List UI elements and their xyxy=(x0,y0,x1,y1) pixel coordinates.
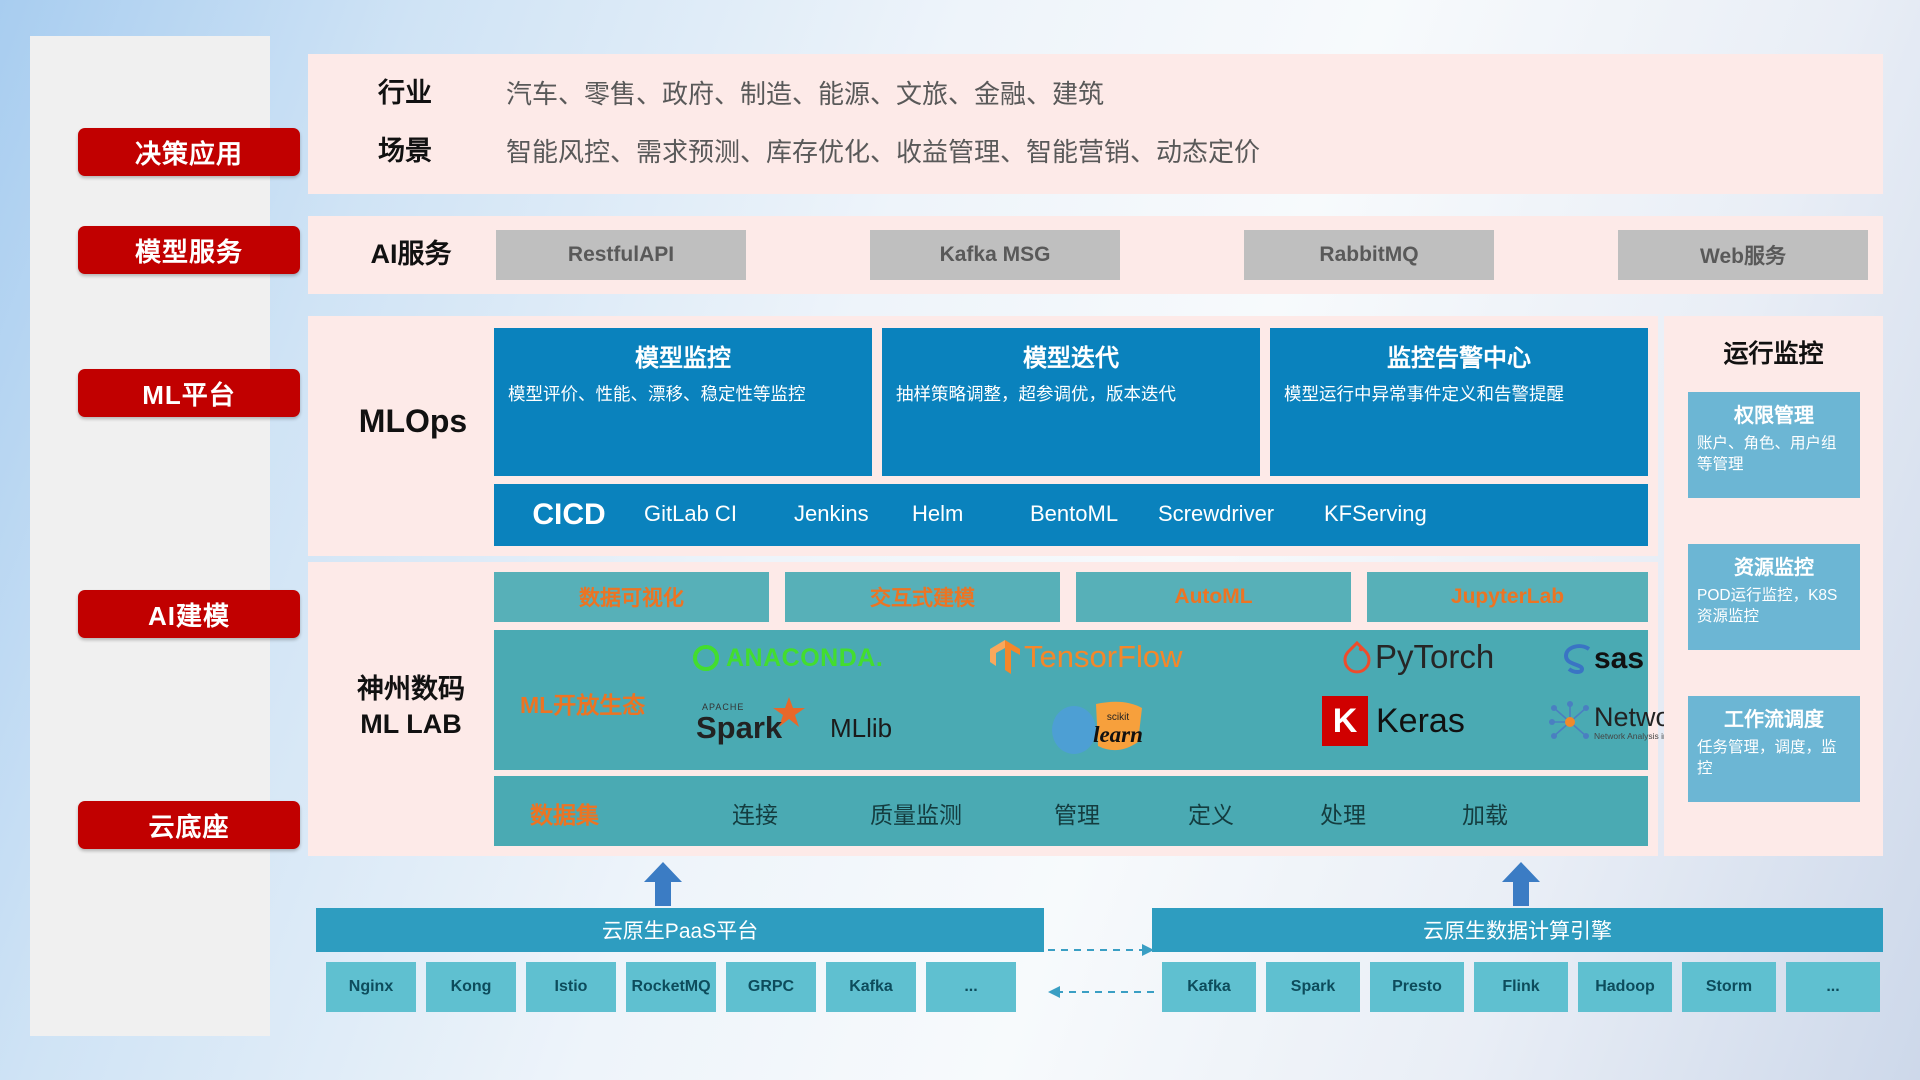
pill-label: Web服务 xyxy=(1700,240,1786,270)
card-title: 资源监控 xyxy=(1697,551,1851,580)
card-desc: 账户、角色、用户组等管理 xyxy=(1697,434,1851,476)
engine-tag-presto[interactable]: Presto xyxy=(1370,962,1464,1012)
card-desc: 抽样策略调整，超参调优，版本迭代 xyxy=(896,382,1246,406)
anaconda-logo: ANACONDA. xyxy=(690,642,883,674)
cicd-item-helm[interactable]: Helm xyxy=(912,484,1030,525)
tag-label: Spark xyxy=(1291,979,1335,996)
pill-label: RestfulAPI xyxy=(568,243,674,267)
ai-service-pill-rabbitmq[interactable]: RabbitMQ xyxy=(1244,230,1494,280)
cicd-item-jenkins[interactable]: Jenkins xyxy=(794,484,912,525)
tag-label: ... xyxy=(964,979,977,996)
paas-tag-more[interactable]: ... xyxy=(926,962,1016,1012)
tab-label: AutoML xyxy=(1174,585,1252,609)
arrow-up-paas-icon xyxy=(640,862,686,906)
rail-item-cloud-base[interactable]: 云底座 xyxy=(78,801,300,849)
engine-tag-storm[interactable]: Storm xyxy=(1682,962,1776,1012)
ai-service-pill-restfulapi[interactable]: RestfulAPI xyxy=(496,230,746,280)
dataset-item-manage[interactable]: 管理 xyxy=(1054,796,1100,830)
cicd-item-label: Jenkins xyxy=(794,501,869,526)
rail-label: AI建模 xyxy=(148,596,230,633)
paas-tag-kafka[interactable]: Kafka xyxy=(826,962,916,1012)
tag-label: RocketMQ xyxy=(631,979,710,996)
card-title: 监控告警中心 xyxy=(1284,338,1634,373)
tensorflow-logo: TensorFlow xyxy=(988,638,1183,676)
card-desc: 模型运行中异常事件定义和告警提醒 xyxy=(1284,382,1634,406)
pytorch-wordmark: PyTorch xyxy=(1375,638,1494,676)
tab-label: 交互式建模 xyxy=(870,582,975,612)
dataset-item-define[interactable]: 定义 xyxy=(1188,796,1234,830)
tag-label: Presto xyxy=(1392,979,1442,996)
cicd-item-gitlab[interactable]: GitLab CI xyxy=(644,484,794,525)
tag-label: Kong xyxy=(451,979,492,996)
engine-tag-more[interactable]: ... xyxy=(1786,962,1880,1012)
runtime-monitor-panel: 运行监控 权限管理 账户、角色、用户组等管理 资源监控 POD运行监控，K8S资… xyxy=(1664,316,1883,856)
mlops-label: MLOps xyxy=(338,398,488,444)
cicd-item-label: GitLab CI xyxy=(644,501,737,526)
networkx-graph-icon xyxy=(1548,700,1592,744)
pill-label: Kafka MSG xyxy=(940,243,1051,267)
cicd-label: CICD xyxy=(494,484,644,532)
tag-label: Nginx xyxy=(349,979,393,996)
engine-tag-hadoop[interactable]: Hadoop xyxy=(1578,962,1672,1012)
sas-swirl-icon xyxy=(1562,644,1596,674)
keras-mark-letter: K xyxy=(1333,702,1358,741)
keras-mark-icon: K xyxy=(1322,696,1368,746)
dataset-item-load[interactable]: 加载 xyxy=(1462,796,1508,830)
dataset-label: 数据集 xyxy=(530,796,599,830)
scenario-row-label: 场景 xyxy=(350,130,460,174)
tag-label: Storm xyxy=(1706,979,1752,996)
card-title: 模型迭代 xyxy=(896,338,1246,373)
rail-item-model-svc[interactable]: 模型服务 xyxy=(78,226,300,274)
cicd-bar: CICD GitLab CI Jenkins Helm BentoML Scre… xyxy=(494,484,1648,546)
anaconda-wordmark: ANACONDA. xyxy=(726,644,883,673)
ml-lab-label-line2: ML LAB xyxy=(326,707,496,742)
dataset-item-label: 连接 xyxy=(732,802,778,828)
ai-service-label: AI服务 xyxy=(346,236,476,274)
sas-logo: sas xyxy=(1562,642,1644,676)
tensorflow-mark-icon xyxy=(988,638,1022,676)
tag-label: Istio xyxy=(555,979,588,996)
tab-label: JupyterLab xyxy=(1451,585,1564,609)
rail-item-decision[interactable]: 决策应用 xyxy=(78,128,300,176)
pytorch-logo: PyTorch xyxy=(1342,638,1494,676)
cicd-item-label: KFServing xyxy=(1324,501,1427,526)
cicd-item-bentoml[interactable]: BentoML xyxy=(1030,484,1158,525)
tab-label: 数据可视化 xyxy=(579,582,684,612)
keras-logo: K Keras xyxy=(1322,696,1465,746)
industry-row-value: 汽车、零售、政府、制造、能源、文旅、金融、建筑 xyxy=(506,74,1104,111)
engine-tag-row: Kafka Spark Presto Flink Hadoop Storm ..… xyxy=(1162,962,1882,1012)
sas-wordmark: sas xyxy=(1594,642,1644,676)
scikit-learn-logo: scikit learn xyxy=(1046,698,1164,756)
pill-label: RabbitMQ xyxy=(1319,243,1418,267)
scenario-row-value: 智能风控、需求预测、库存优化、收益管理、智能营销、动态定价 xyxy=(506,132,1260,169)
cicd-item-label: BentoML xyxy=(1030,501,1118,526)
paas-tag-row: Nginx Kong Istio RocketMQ GRPC Kafka ... xyxy=(326,962,1046,1012)
ecosystem-label: ML开放生态 xyxy=(520,686,645,720)
engine-tag-spark[interactable]: Spark xyxy=(1266,962,1360,1012)
card-title: 工作流调度 xyxy=(1697,703,1851,732)
spark-wordmark: Spark xyxy=(696,710,782,746)
pytorch-flame-icon xyxy=(1342,640,1372,674)
engine-tag-kafka[interactable]: Kafka xyxy=(1162,962,1256,1012)
mllib-label: MLlib xyxy=(830,713,892,744)
tensorflow-wordmark: TensorFlow xyxy=(1024,639,1183,675)
dataset-item-process[interactable]: 处理 xyxy=(1320,796,1366,830)
cicd-item-label: Helm xyxy=(912,501,963,526)
monitor-card-workflow[interactable]: 工作流调度 任务管理，调度，监控 xyxy=(1688,696,1860,802)
dataset-row: 数据集 连接 质量监测 管理 定义 处理 加载 xyxy=(494,776,1648,846)
paas-tag-rocketmq[interactable]: RocketMQ xyxy=(626,962,716,1012)
engine-tag-flink[interactable]: Flink xyxy=(1474,962,1568,1012)
tag-label: Hadoop xyxy=(1595,979,1655,996)
monitor-card-permission[interactable]: 权限管理 账户、角色、用户组等管理 xyxy=(1688,392,1860,498)
dataset-item-label: 加载 xyxy=(1462,802,1508,828)
rail-label: 决策应用 xyxy=(135,134,243,171)
keras-wordmark: Keras xyxy=(1376,702,1465,741)
paas-tag-grpc[interactable]: GRPC xyxy=(726,962,816,1012)
industry-row-label: 行业 xyxy=(350,72,460,116)
paas-tag-istio[interactable]: Istio xyxy=(526,962,616,1012)
card-desc: 模型评价、性能、漂移、稳定性等监控 xyxy=(508,382,858,406)
lab-tab-data-visualization[interactable]: 数据可视化 xyxy=(494,572,769,622)
paas-tag-kong[interactable]: Kong xyxy=(426,962,516,1012)
monitor-card-resource[interactable]: 资源监控 POD运行监控，K8S资源监控 xyxy=(1688,544,1860,650)
decision-application-band: 行业 汽车、零售、政府、制造、能源、文旅、金融、建筑 场景 智能风控、需求预测、… xyxy=(308,54,1883,194)
architecture-diagram: 决策应用 模型服务 ML平台 AI建模 云底座 行业 汽车、零售、政府、制造、能… xyxy=(0,0,1920,1080)
layer-rail: 决策应用 模型服务 ML平台 AI建模 云底座 xyxy=(30,36,270,1036)
dashed-exchange-arrows xyxy=(1046,940,1156,1010)
dataset-item-quality[interactable]: 质量监测 xyxy=(870,796,962,830)
mlops-card-model-monitoring[interactable]: 模型监控 模型评价、性能、漂移、稳定性等监控 xyxy=(494,328,872,476)
arrow-up-engine-icon xyxy=(1498,862,1544,906)
lab-tab-jupyterlab[interactable]: JupyterLab xyxy=(1367,572,1648,622)
ml-ecosystem-block: ML开放生态 ANACONDA. TensorFlow xyxy=(494,630,1648,770)
cicd-item-kfserving[interactable]: KFServing xyxy=(1324,484,1474,525)
ml-lab-band: 神州数码 ML LAB 数据可视化 交互式建模 AutoML JupyterLa… xyxy=(308,562,1658,856)
card-desc: POD运行监控，K8S资源监控 xyxy=(1697,586,1851,628)
card-title: 权限管理 xyxy=(1697,399,1851,428)
data-engine-bar[interactable]: 云原生数据计算引擎 xyxy=(1152,908,1883,952)
rail-label: ML平台 xyxy=(142,375,236,412)
mlops-card-model-iteration[interactable]: 模型迭代 抽样策略调整，超参调优，版本迭代 xyxy=(882,328,1260,476)
tag-label: ... xyxy=(1826,979,1839,996)
rail-item-ai-modeling[interactable]: AI建模 xyxy=(78,590,300,638)
tag-label: GRPC xyxy=(748,979,794,996)
svg-text:learn: learn xyxy=(1093,722,1143,747)
lab-tab-automl[interactable]: AutoML xyxy=(1076,572,1351,622)
dataset-item-label: 处理 xyxy=(1320,802,1366,828)
dataset-item-label: 定义 xyxy=(1188,802,1234,828)
cicd-item-label: Screwdriver xyxy=(1158,501,1274,526)
anaconda-ring-icon xyxy=(690,642,722,674)
rail-label: 云底座 xyxy=(148,807,229,844)
dataset-item-label: 质量监测 xyxy=(870,802,962,828)
runtime-monitor-title: 运行监控 xyxy=(1664,316,1883,370)
tag-label: Flink xyxy=(1502,979,1539,996)
ml-lab-label: 神州数码 ML LAB xyxy=(326,672,496,742)
rail-item-ml-platform[interactable]: ML平台 xyxy=(78,369,300,417)
dataset-item-label: 管理 xyxy=(1054,802,1100,828)
ml-lab-label-line1: 神州数码 xyxy=(326,672,496,707)
rail-label: 模型服务 xyxy=(135,232,243,269)
mlops-band: MLOps 模型监控 模型评价、性能、漂移、稳定性等监控 模型迭代 抽样策略调整… xyxy=(308,316,1658,556)
ai-service-band: AI服务 RestfulAPI Kafka MSG RabbitMQ Web服务 xyxy=(308,216,1883,294)
paas-tag-nginx[interactable]: Nginx xyxy=(326,962,416,1012)
data-engine-title: 云原生数据计算引擎 xyxy=(1423,915,1612,945)
spark-mllib-logo: APACHE Spark MLlib xyxy=(696,700,892,756)
lab-tab-interactive-modeling[interactable]: 交互式建模 xyxy=(785,572,1060,622)
scikit-learn-mark-icon: scikit learn xyxy=(1046,698,1164,756)
card-title: 模型监控 xyxy=(508,338,858,373)
tag-label: Kafka xyxy=(849,979,893,996)
paas-platform-bar[interactable]: 云原生PaaS平台 xyxy=(316,908,1044,952)
ai-service-pill-kafka-msg[interactable]: Kafka MSG xyxy=(870,230,1120,280)
ai-service-pill-web[interactable]: Web服务 xyxy=(1618,230,1868,280)
cicd-item-screwdriver[interactable]: Screwdriver xyxy=(1158,484,1324,525)
tag-label: Kafka xyxy=(1187,979,1231,996)
dataset-item-connect[interactable]: 连接 xyxy=(732,796,778,830)
mlops-card-alert-center[interactable]: 监控告警中心 模型运行中异常事件定义和告警提醒 xyxy=(1270,328,1648,476)
card-desc: 任务管理，调度，监控 xyxy=(1697,738,1851,780)
paas-platform-title: 云原生PaaS平台 xyxy=(602,915,758,945)
